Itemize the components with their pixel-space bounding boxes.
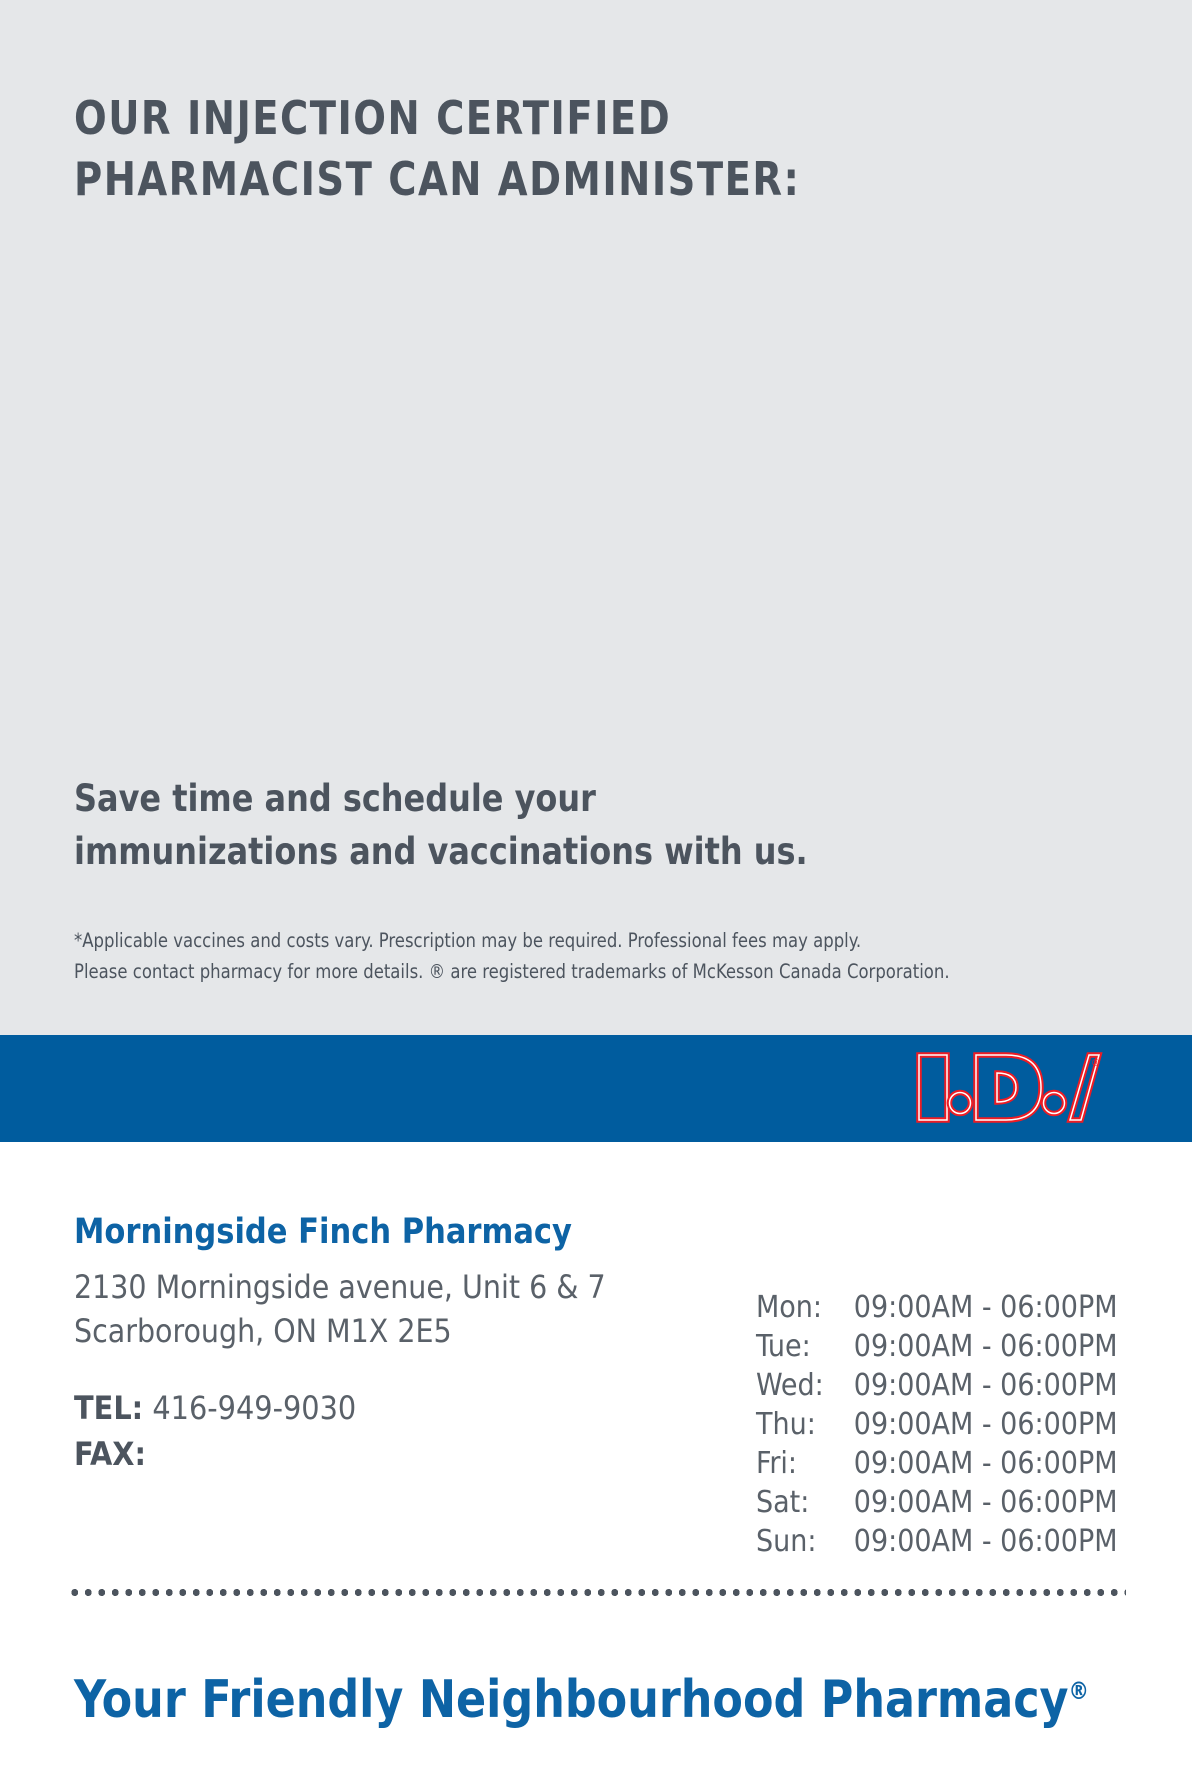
telephone-row: TEL: 416-949-9030 xyxy=(74,1385,724,1431)
hours-day-label: Fri: xyxy=(756,1444,854,1483)
fax-row: FAX: xyxy=(74,1431,724,1477)
telephone-value[interactable]: 416-949-9030 xyxy=(152,1389,356,1427)
disclaimer-text: *Applicable vaccines and costs vary. Pre… xyxy=(74,925,1070,987)
table-row: Tue:09:00AM - 06:00PM xyxy=(756,1327,1118,1366)
subheading-text: Save time and schedule your immunization… xyxy=(74,772,861,878)
store-address: 2130 Morningside avenue, Unit 6 & 7 Scar… xyxy=(74,1265,718,1353)
hours-time-value: 09:00AM - 06:00PM xyxy=(854,1327,1118,1366)
tagline-text: Your Friendly Neighbourhood Pharmacy xyxy=(74,1670,1069,1730)
table-row: Sun:09:00AM - 06:00PM xyxy=(756,1522,1118,1561)
top-gray-panel: OUR INJECTION CERTIFIED PHARMACIST CAN A… xyxy=(0,0,1192,1035)
store-name: Morningside Finch Pharmacy xyxy=(74,1212,572,1252)
table-row: Mon:09:00AM - 06:00PM xyxy=(756,1288,1118,1327)
tagline: Your Friendly Neighbourhood Pharmacy® xyxy=(74,1660,1089,1731)
svg-text:®: ® xyxy=(1092,1058,1100,1069)
hours-day-label: Thu: xyxy=(756,1405,854,1444)
table-row: Sat:09:00AM - 06:00PM xyxy=(756,1483,1118,1522)
hours-time-value: 09:00AM - 06:00PM xyxy=(854,1405,1118,1444)
store-hours-body: Mon:09:00AM - 06:00PMTue:09:00AM - 06:00… xyxy=(756,1288,1118,1561)
fax-label: FAX: xyxy=(74,1435,146,1473)
dotted-divider xyxy=(68,1589,1126,1596)
registered-trademark-icon: ® xyxy=(1069,1677,1090,1705)
page-title: OUR INJECTION CERTIFIED PHARMACIST CAN A… xyxy=(74,88,874,210)
hours-day-label: Tue: xyxy=(756,1327,854,1366)
hours-day-label: Wed: xyxy=(756,1366,854,1405)
hours-time-value: 09:00AM - 06:00PM xyxy=(854,1522,1118,1561)
table-row: Wed:09:00AM - 06:00PM xyxy=(756,1366,1118,1405)
store-hours-table: Mon:09:00AM - 06:00PMTue:09:00AM - 06:00… xyxy=(756,1288,1118,1561)
hours-day-label: Sun: xyxy=(756,1522,854,1561)
hours-day-label: Sat: xyxy=(756,1483,854,1522)
hours-time-value: 09:00AM - 06:00PM xyxy=(854,1288,1118,1327)
telephone-label: TEL: xyxy=(74,1389,143,1427)
table-row: Thu:09:00AM - 06:00PM xyxy=(756,1405,1118,1444)
flyer-page: OUR INJECTION CERTIFIED PHARMACIST CAN A… xyxy=(0,0,1192,1785)
hours-time-value: 09:00AM - 06:00PM xyxy=(854,1444,1118,1483)
hours-time-value: 09:00AM - 06:00PM xyxy=(854,1366,1118,1405)
table-row: Fri:09:00AM - 06:00PM xyxy=(756,1444,1118,1483)
ida-logo: ® xyxy=(916,1051,1114,1124)
store-contact: TEL: 416-949-9030 FAX: xyxy=(74,1385,724,1477)
hours-day-label: Mon: xyxy=(756,1288,854,1327)
hours-time-value: 09:00AM - 06:00PM xyxy=(854,1483,1118,1522)
